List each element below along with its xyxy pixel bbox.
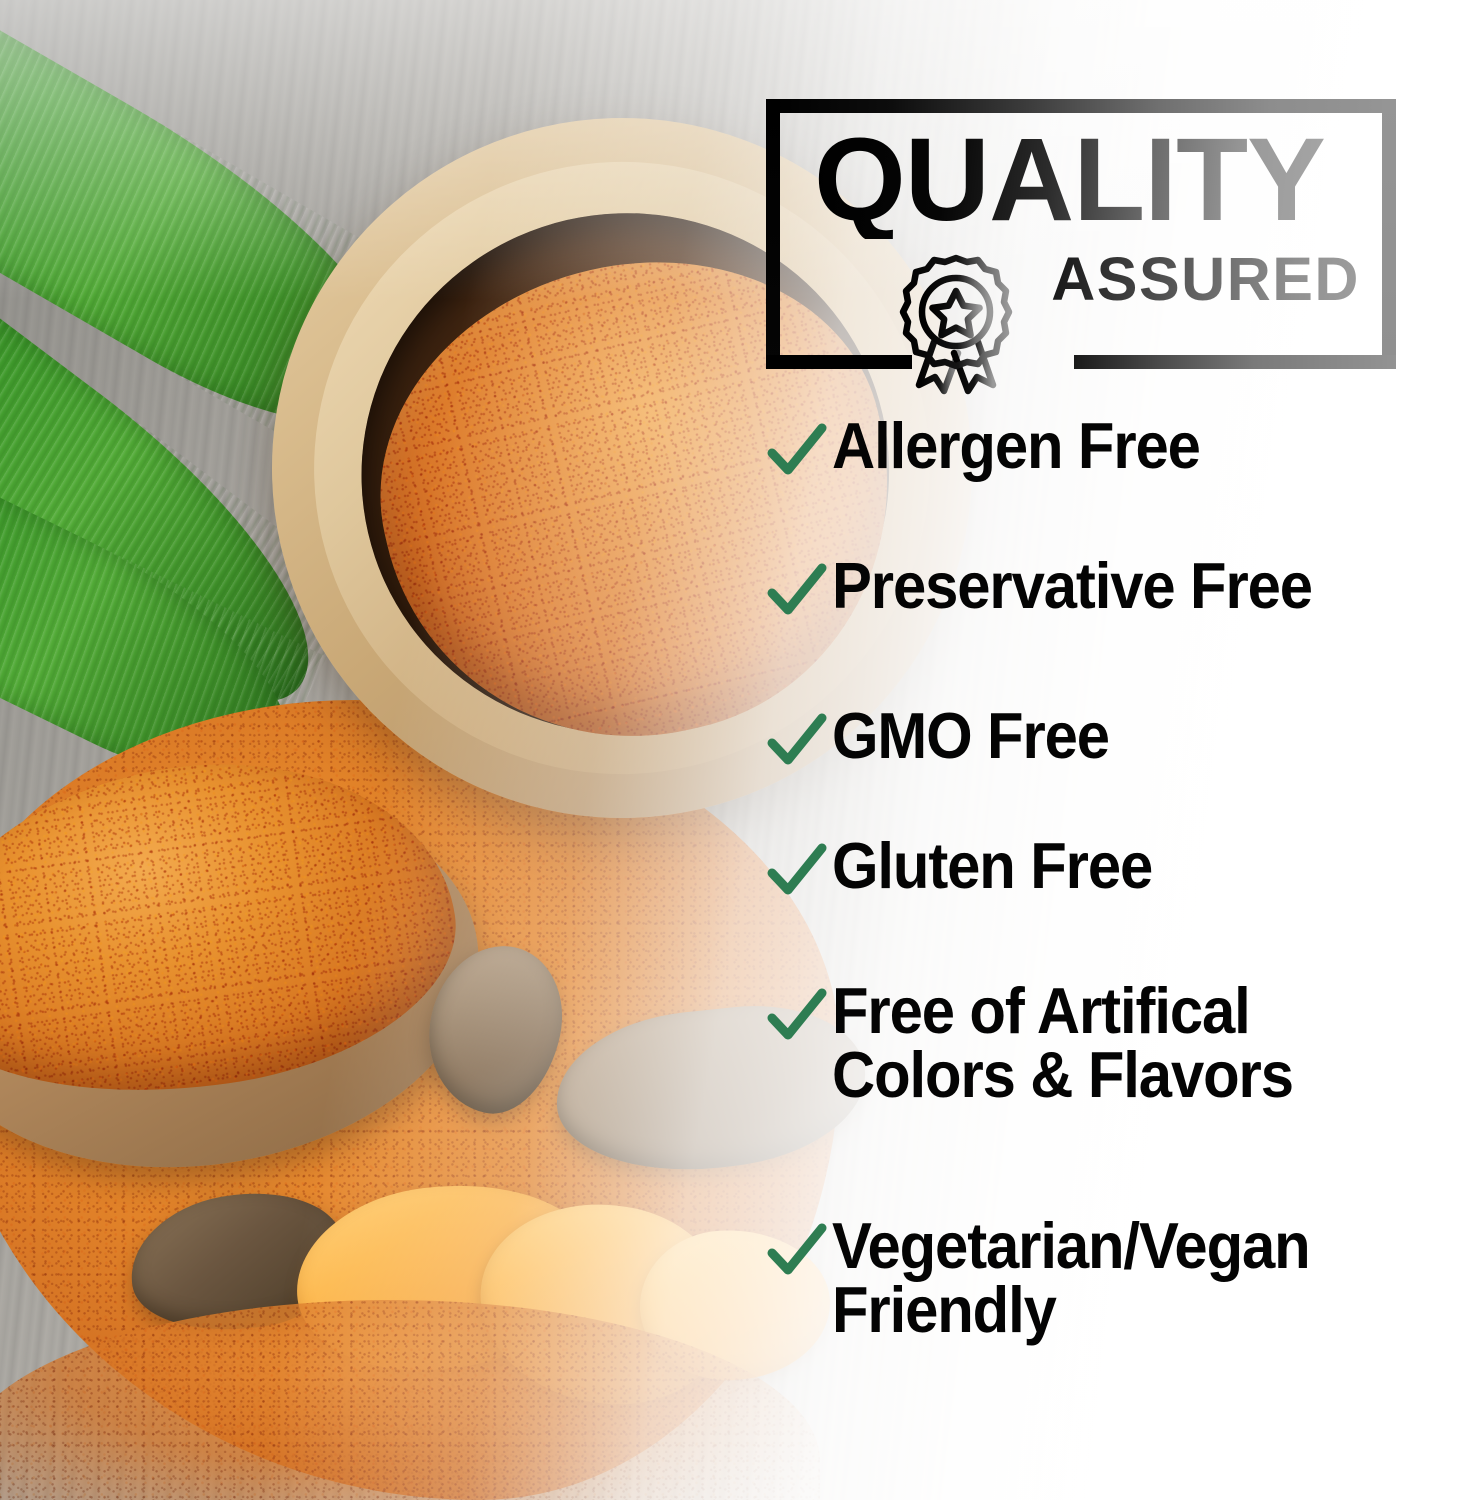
badge-frame-top [766, 99, 1396, 113]
list-item: Vegetarian/Vegan Friendly [766, 1214, 1463, 1343]
list-item-label: Vegetarian/Vegan Friendly [832, 1214, 1310, 1343]
product-feature-image: QUALITY ASSURED [0, 0, 1463, 1500]
list-item: Gluten Free [766, 834, 1463, 902]
badge-frame-left [766, 99, 780, 369]
badge-title: QUALITY [814, 121, 1325, 239]
list-item: GMO Free [766, 704, 1463, 772]
list-item: Preservative Free [766, 554, 1463, 622]
badge-subtitle: ASSURED [1051, 249, 1360, 310]
badge-frame-right [1382, 99, 1396, 369]
award-rosette-icon [890, 249, 1022, 399]
list-item-label: Free of Artifical Colors & Flavors [832, 979, 1293, 1108]
list-item-label: Preservative Free [832, 554, 1312, 618]
quality-assured-badge: QUALITY ASSURED [766, 99, 1396, 369]
list-item-label: GMO Free [832, 704, 1109, 768]
check-icon [766, 840, 828, 902]
check-icon [766, 710, 828, 772]
list-item-label: Allergen Free [832, 414, 1200, 478]
list-item: Allergen Free [766, 414, 1463, 482]
badge-frame-bottom-right [1074, 355, 1396, 369]
list-item: Free of Artifical Colors & Flavors [766, 979, 1463, 1108]
check-icon [766, 985, 828, 1047]
list-item-label: Gluten Free [832, 834, 1152, 898]
check-icon [766, 560, 828, 622]
check-icon [766, 1220, 828, 1282]
check-icon [766, 420, 828, 482]
